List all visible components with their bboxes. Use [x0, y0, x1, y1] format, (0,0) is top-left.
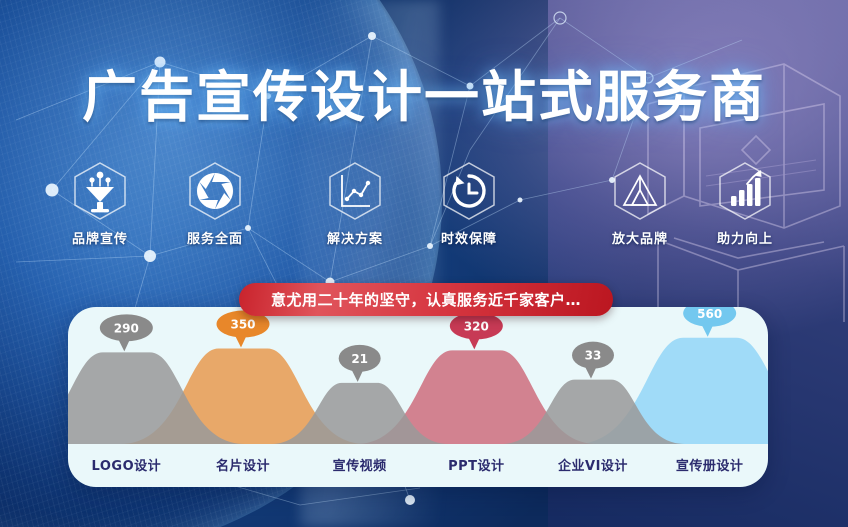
feature-icon-row: 品牌宣传 服务全面: [0, 160, 848, 250]
svg-text:21: 21: [351, 352, 368, 366]
chart-analysis-icon: [323, 160, 387, 222]
tagline-banner: 意尤用二十年的坚守，认真服务近千家客户…: [239, 283, 613, 316]
clock-history-icon: [437, 160, 501, 222]
feature-item-service[interactable]: 服务全面: [160, 160, 270, 247]
tagline-text: 意尤用二十年的坚守，认真服务近千家客户…: [271, 289, 581, 310]
feature-item-amplify[interactable]: 放大品牌: [585, 160, 695, 247]
chart-label-3: PPT设计: [418, 455, 535, 474]
value-callout-0: 290: [100, 314, 153, 351]
svg-text:290: 290: [114, 321, 139, 335]
svg-text:350: 350: [230, 318, 255, 332]
value-callout-5: 560: [683, 307, 736, 337]
chart-category-labels: LOGO设计名片设计宣传视频PPT设计企业VI设计宣传册设计: [68, 455, 768, 475]
feature-label: 助力向上: [690, 228, 800, 247]
feature-label: 放大品牌: [585, 228, 695, 247]
feature-label: 品牌宣传: [45, 228, 155, 247]
svg-text:33: 33: [585, 349, 602, 363]
value-callout-2: 21: [339, 345, 381, 382]
value-callout-1: 350: [217, 311, 270, 348]
chart-label-5: 宣传册设计: [651, 455, 768, 474]
chart-label-4: 企业VI设计: [535, 455, 652, 474]
aperture-icon: [183, 160, 247, 222]
feature-label: 服务全面: [160, 228, 270, 247]
chart-panel: 2903502132033560 LOGO设计名片设计宣传视频PPT设计企业VI…: [68, 307, 768, 487]
feature-item-solution[interactable]: 解决方案: [300, 160, 410, 247]
feature-item-growth[interactable]: 助力向上: [690, 160, 800, 247]
brand-award-icon: [68, 160, 132, 222]
feature-item-brand[interactable]: 品牌宣传: [45, 160, 155, 247]
value-callout-3: 320: [450, 312, 503, 349]
feature-item-timeliness[interactable]: 时效保障: [414, 160, 524, 247]
bar-growth-icon: [713, 160, 777, 222]
value-callout-4: 33: [572, 342, 614, 379]
feature-label: 时效保障: [414, 228, 524, 247]
svg-text:560: 560: [697, 307, 722, 321]
chart-label-1: 名片设计: [185, 455, 302, 474]
chart-label-0: LOGO设计: [68, 455, 185, 474]
svg-text:320: 320: [464, 319, 489, 333]
poster-canvas: 广告宣传设计一站式服务商 品牌宣传: [0, 0, 848, 527]
page-title: 广告宣传设计一站式服务商: [0, 52, 848, 132]
chart-label-2: 宣传视频: [301, 455, 418, 474]
feature-label: 解决方案: [300, 228, 410, 247]
triangle-pyramid-icon: [608, 160, 672, 222]
